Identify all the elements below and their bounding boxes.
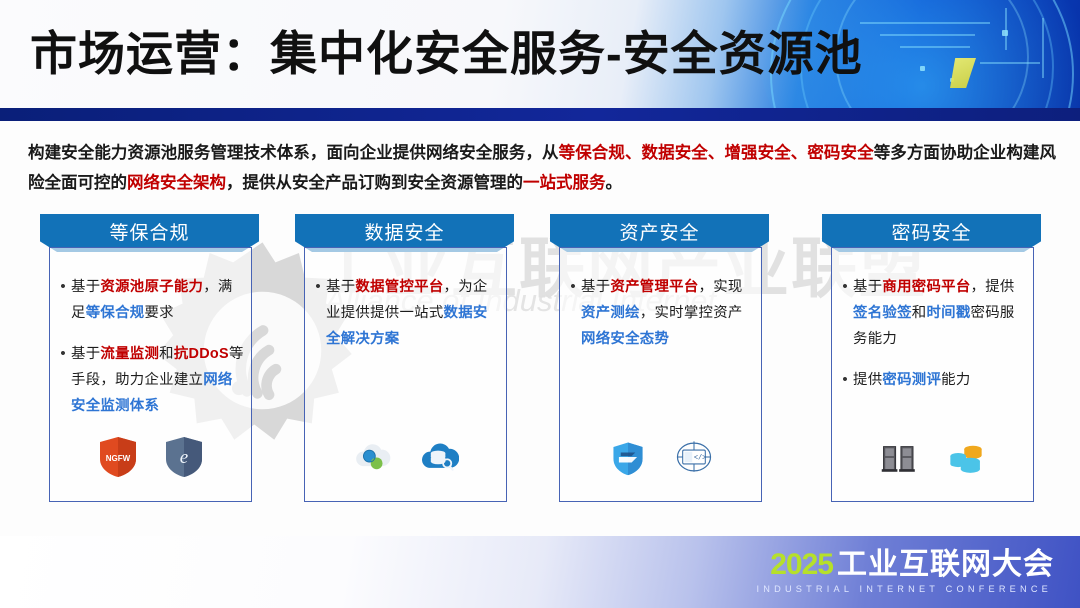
conference-logo: 2025 工业互联网大会 [770, 550, 1054, 580]
blue-shield-icon [608, 435, 648, 479]
card-title: 等保合规 [109, 218, 189, 245]
bullet-list: • 基于资产管理平台，实现资产测绘，实时掌控资产网络安全态势 [565, 274, 755, 367]
card-row: 等保合规 • 基于资源池原子能力，满足等保合规要求 • 基于流量监测和抗DDoS… [0, 214, 1080, 506]
card-mima-anquan[interactable]: 密码安全 • 基于商用密码平台，提供签名验签和时间戳密码服务能力 • 提供密码测… [822, 214, 1041, 502]
bullet-dot: • [55, 341, 71, 419]
seg-blue: 签名验签 [853, 305, 912, 321]
list-item: • 提供密码测评能力 [837, 367, 1027, 393]
seg: 基于 [326, 279, 355, 295]
bullet-dot: • [55, 274, 71, 326]
seg: ，实现 [699, 279, 743, 295]
bullet-text: 基于资产管理平台，实现资产测绘，实时掌控资产网络安全态势 [581, 274, 755, 352]
seg: 提供 [853, 372, 882, 388]
seg-blue: 等保合规 [86, 305, 145, 321]
bullet-text: 基于数据管控平台，为企业提供提供一站式数据安全解决方案 [326, 274, 500, 352]
card-body: • 基于商用密码平台，提供签名验签和时间戳密码服务能力 • 提供密码测评能力 [831, 247, 1034, 502]
seg-red: 数据管控平台 [355, 279, 443, 295]
card-body: • 基于数据管控平台，为企业提供提供一站式数据安全解决方案 [304, 247, 507, 502]
tech-line [860, 22, 990, 24]
card-shuju-anquan[interactable]: 数据安全 • 基于数据管控平台，为企业提供提供一站式数据安全解决方案 [295, 214, 514, 502]
summary-highlight-3: 一站式服务 [523, 174, 606, 192]
bullet-dot: • [837, 367, 853, 393]
bullet-text: 基于资源池原子能力，满足等保合规要求 [71, 274, 245, 326]
bullet-dot: • [565, 274, 581, 352]
cloud-globe-icon [353, 435, 393, 479]
seg: 基于 [581, 279, 610, 295]
seg-blue: 时间戳 [926, 305, 970, 321]
summary-text-1: 构建安全能力资源池服务管理技术体系，面向企业提供网络安全服务，从 [28, 144, 559, 162]
svg-text:</>: </> [693, 455, 706, 463]
page-title: 市场运营：集中化安全服务-安全资源池 [30, 18, 863, 90]
card-title: 密码安全 [891, 218, 971, 245]
tech-line [1042, 18, 1044, 78]
summary-highlight-2: 网络安全架构 [127, 174, 226, 192]
bullet-list: • 基于数据管控平台，为企业提供提供一站式数据安全解决方案 [310, 274, 500, 367]
tech-line [1005, 8, 1007, 50]
seg: ，实时掌控资产 [640, 305, 743, 321]
tech-line [880, 34, 975, 36]
bullet-text: 基于商用密码平台，提供签名验签和时间戳密码服务能力 [853, 274, 1027, 352]
navy-divider [0, 108, 1080, 121]
seg: 和 [159, 346, 174, 362]
bullet-dot: • [310, 274, 326, 352]
seg: 基于 [71, 346, 100, 362]
svg-text:e: e [179, 447, 187, 468]
card-body: • 基于资产管理平台，实现资产测绘，实时掌控资产网络安全态势 [559, 247, 762, 502]
seg-red: 商用密码平台 [882, 279, 970, 295]
seg-blue: 密码测评 [882, 372, 941, 388]
list-item: • 基于商用密码平台，提供签名验签和时间戳密码服务能力 [837, 274, 1027, 352]
seg-blue: 资产测绘 [581, 305, 640, 321]
ngfw-shield-icon: NGFW [98, 435, 138, 479]
summary-highlight-1: 等保合规、数据安全、增强安全、密码安全 [559, 144, 874, 162]
list-item: • 基于流量监测和抗DDoS等手段，助力企业建立网络安全监测体系 [55, 341, 245, 419]
server-rack-icon [880, 435, 920, 479]
seg-red: 资产管理平台 [610, 279, 698, 295]
list-item: • 基于数据管控平台，为企业提供提供一站式数据安全解决方案 [310, 274, 500, 352]
logo-year: 2025 [770, 550, 833, 580]
seg-red: 资源池原子能力 [100, 279, 203, 295]
logo-name-en: INDUSTRIAL INTERNET CONFERENCE [757, 584, 1052, 594]
footer-band: 2025 工业互联网大会 INDUSTRIAL INTERNET CONFERE… [0, 536, 1080, 608]
tech-ring-icon [835, 0, 1029, 108]
seg-blue: 网络安全态势 [581, 331, 669, 347]
bullet-dot: • [837, 274, 853, 352]
seg: ，提供 [971, 279, 1015, 295]
list-item: • 基于资产管理平台，实现资产测绘，实时掌控资产网络安全态势 [565, 274, 755, 352]
summary-paragraph: 构建安全能力资源池服务管理技术体系，面向企业提供网络安全服务，从等保合规、数据安… [28, 138, 1056, 198]
title-banner: 市场运营：集中化安全服务-安全资源池 [0, 0, 1080, 108]
seg: 能力 [941, 372, 970, 388]
edge-browser-shield-icon: e [164, 435, 204, 479]
bullet-list: • 基于商用密码平台，提供签名验签和时间戳密码服务能力 • 提供密码测评能力 [837, 274, 1027, 408]
card-icons: </> [560, 435, 761, 479]
bullet-text: 提供密码测评能力 [853, 367, 971, 393]
bullet-list: • 基于资源池原子能力，满足等保合规要求 • 基于流量监测和抗DDoS等手段，助… [55, 274, 245, 434]
tech-line [900, 46, 970, 48]
card-dengbao-hegui[interactable]: 等保合规 • 基于资源池原子能力，满足等保合规要求 • 基于流量监测和抗DDoS… [40, 214, 259, 502]
tech-dot [920, 66, 925, 71]
seg: 和 [912, 305, 927, 321]
card-icons [832, 435, 1033, 479]
database-stack-icon [946, 435, 986, 479]
card-zichan-anquan[interactable]: 资产安全 • 基于资产管理平台，实现资产测绘，实时掌控资产网络安全态势 [550, 214, 769, 502]
seg: 基于 [853, 279, 882, 295]
list-item: • 基于资源池原子能力，满足等保合规要求 [55, 274, 245, 326]
bullet-text: 基于流量监测和抗DDoS等手段，助力企业建立网络安全监测体系 [71, 341, 245, 419]
seg-red: 流量监测 [100, 346, 159, 362]
summary-text-4: 。 [606, 174, 623, 192]
svg-text:NGFW: NGFW [105, 454, 130, 463]
summary-text-3: ，提供从安全产品订购到安全资源管理的 [226, 174, 523, 192]
slide: 市场运营：集中化安全服务-安全资源池 构建安全能力资源池服务管理技术体系，面向企… [0, 0, 1080, 608]
code-network-circle-icon: </> [674, 435, 714, 479]
tech-line [980, 62, 1040, 64]
seg: 基于 [71, 279, 100, 295]
seg: 要求 [144, 305, 173, 321]
card-body: • 基于资源池原子能力，满足等保合规要求 • 基于流量监测和抗DDoS等手段，助… [49, 247, 252, 502]
card-title: 数据安全 [364, 218, 444, 245]
cloud-database-search-icon [419, 435, 459, 479]
card-title: 资产安全 [619, 218, 699, 245]
card-icons [305, 435, 506, 479]
logo-name-cn: 工业互联网大会 [837, 550, 1054, 580]
seg-red: 抗DDoS [174, 346, 229, 362]
card-icons: NGFW e [50, 435, 251, 479]
